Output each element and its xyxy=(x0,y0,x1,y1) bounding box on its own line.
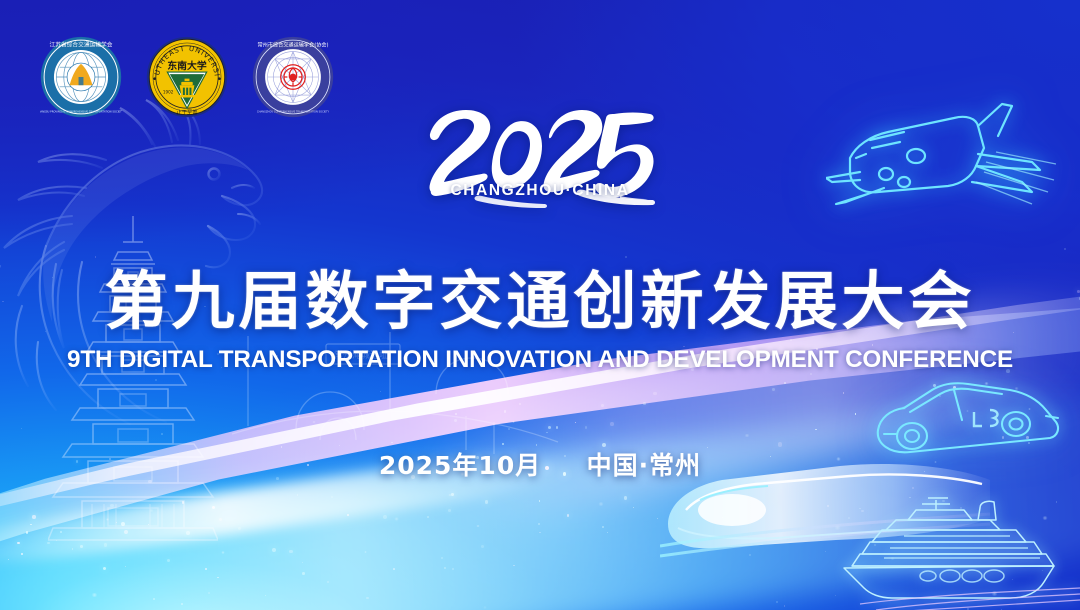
jiangsu-comprehensive-transportation-society-logo[interactable]: 江苏省综合交通运输学会 JIANGSU PROVINCIAL COMPREHEN… xyxy=(40,36,122,118)
year-location-label: CHANGZHOU·CHINA xyxy=(451,182,630,200)
organizer-logos: 江苏省综合交通运输学会 JIANGSU PROVINCIAL COMPREHEN… xyxy=(40,36,334,118)
southeast-university-logo[interactable]: SOUTHEAST UNIVERSITY 东南大学 1902 止于至善 xyxy=(146,36,228,118)
logo-en-text: CHANGZHOU COMPREHENSIVE TRANSPORTATION S… xyxy=(257,109,330,113)
logo-cn-text: 常州市综合交通运输学会(协会) xyxy=(257,41,328,49)
conference-poster: 常州淹城遗址 xyxy=(0,0,1080,610)
event-date: 2025年10月 xyxy=(379,451,541,480)
logo-cn-text: 东南大学 xyxy=(167,59,206,72)
year-mark: CHANGZHOU·CHINA xyxy=(0,104,1080,200)
page-title-en: 9TH DIGITAL TRANSPORTATION INNOVATION AN… xyxy=(5,346,1074,374)
changzhou-comprehensive-transportation-society-logo[interactable]: 常州市综合交通运输学会(协会) CHANGZHOU COMPREHENSIVE … xyxy=(252,36,334,118)
title-block: 第九届数字交通创新发展大会 9TH DIGITAL TRANSPORTATION… xyxy=(0,268,1080,374)
event-location: 中国·常州 xyxy=(587,451,702,480)
logo-motto: 止于至善 xyxy=(177,108,198,116)
page-title-cn: 第九届数字交通创新发展大会 xyxy=(0,268,1080,336)
logo-en-text: JIANGSU PROVINCIAL COMPREHENSIVE TRANSPO… xyxy=(40,109,122,113)
logo-cn-text: 江苏省综合交通运输学会 xyxy=(49,41,112,49)
logo-year: 1902 xyxy=(163,89,174,94)
event-date-location: 2025年10月 中国·常州 xyxy=(0,446,1080,482)
